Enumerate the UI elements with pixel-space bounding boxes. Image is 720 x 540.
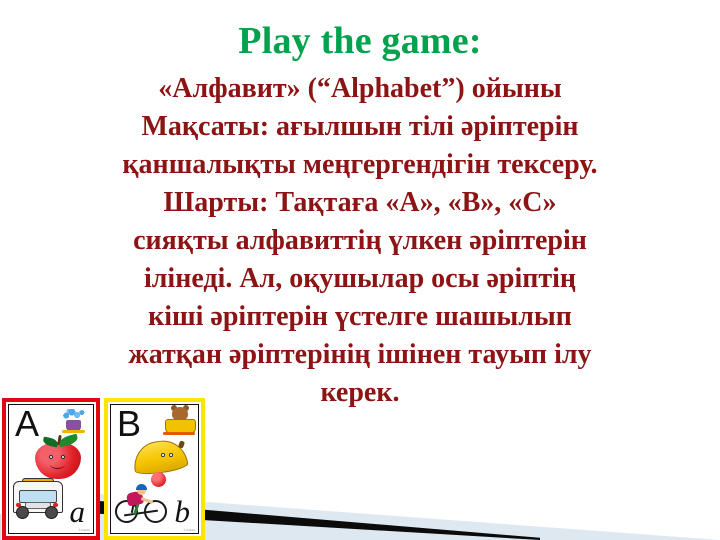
flashcard-b: B bbox=[104, 398, 205, 540]
bicycle-icon bbox=[115, 481, 167, 523]
body-line: сияқты алфавиттің үлкен әріптерін bbox=[0, 222, 720, 260]
flashcard-a-credit: © ClipArt bbox=[79, 529, 90, 532]
flashcard-a-inner: A bbox=[8, 404, 94, 534]
slide-title: Play the game: bbox=[0, 0, 720, 62]
flashcard-a-lowercase-letter: a bbox=[70, 496, 86, 527]
flashcard-b-credit: © ClipArt bbox=[184, 529, 195, 532]
slide-text-block: Play the game: «Алфавит» (“Alphabet”) ой… bbox=[0, 0, 720, 412]
body-line: «Алфавит» (“Alphabet”) ойыны bbox=[0, 70, 720, 108]
body-line: қаншалықты меңгергендігін тексеру. bbox=[0, 146, 720, 184]
presentation-slide: A bbox=[0, 0, 720, 540]
body-line: ілінеді. Ал, оқушылар осы әріптің bbox=[0, 260, 720, 298]
school-bus-icon bbox=[13, 481, 61, 519]
body-line: жатқан әріптерінің ішінен тауып ілу bbox=[0, 336, 720, 374]
flashcard-b-inner: B bbox=[110, 404, 199, 534]
slide-body: «Алфавит» (“Alphabet”) ойыны Мақсаты: ағ… bbox=[0, 70, 720, 412]
body-line: керек. bbox=[0, 374, 720, 412]
body-line: кіші әріптерін үстелге шашылып bbox=[0, 298, 720, 336]
apple-icon bbox=[35, 435, 81, 479]
body-line: Шарты: Тақтаға «А», «В», «С» bbox=[0, 184, 720, 222]
aster-flower-icon bbox=[59, 409, 89, 433]
flashcard-b-lowercase-letter: b bbox=[175, 496, 191, 527]
flashcard-a: A bbox=[2, 398, 100, 540]
body-line: Мақсаты: ағылшын тілі әріптерін bbox=[0, 108, 720, 146]
